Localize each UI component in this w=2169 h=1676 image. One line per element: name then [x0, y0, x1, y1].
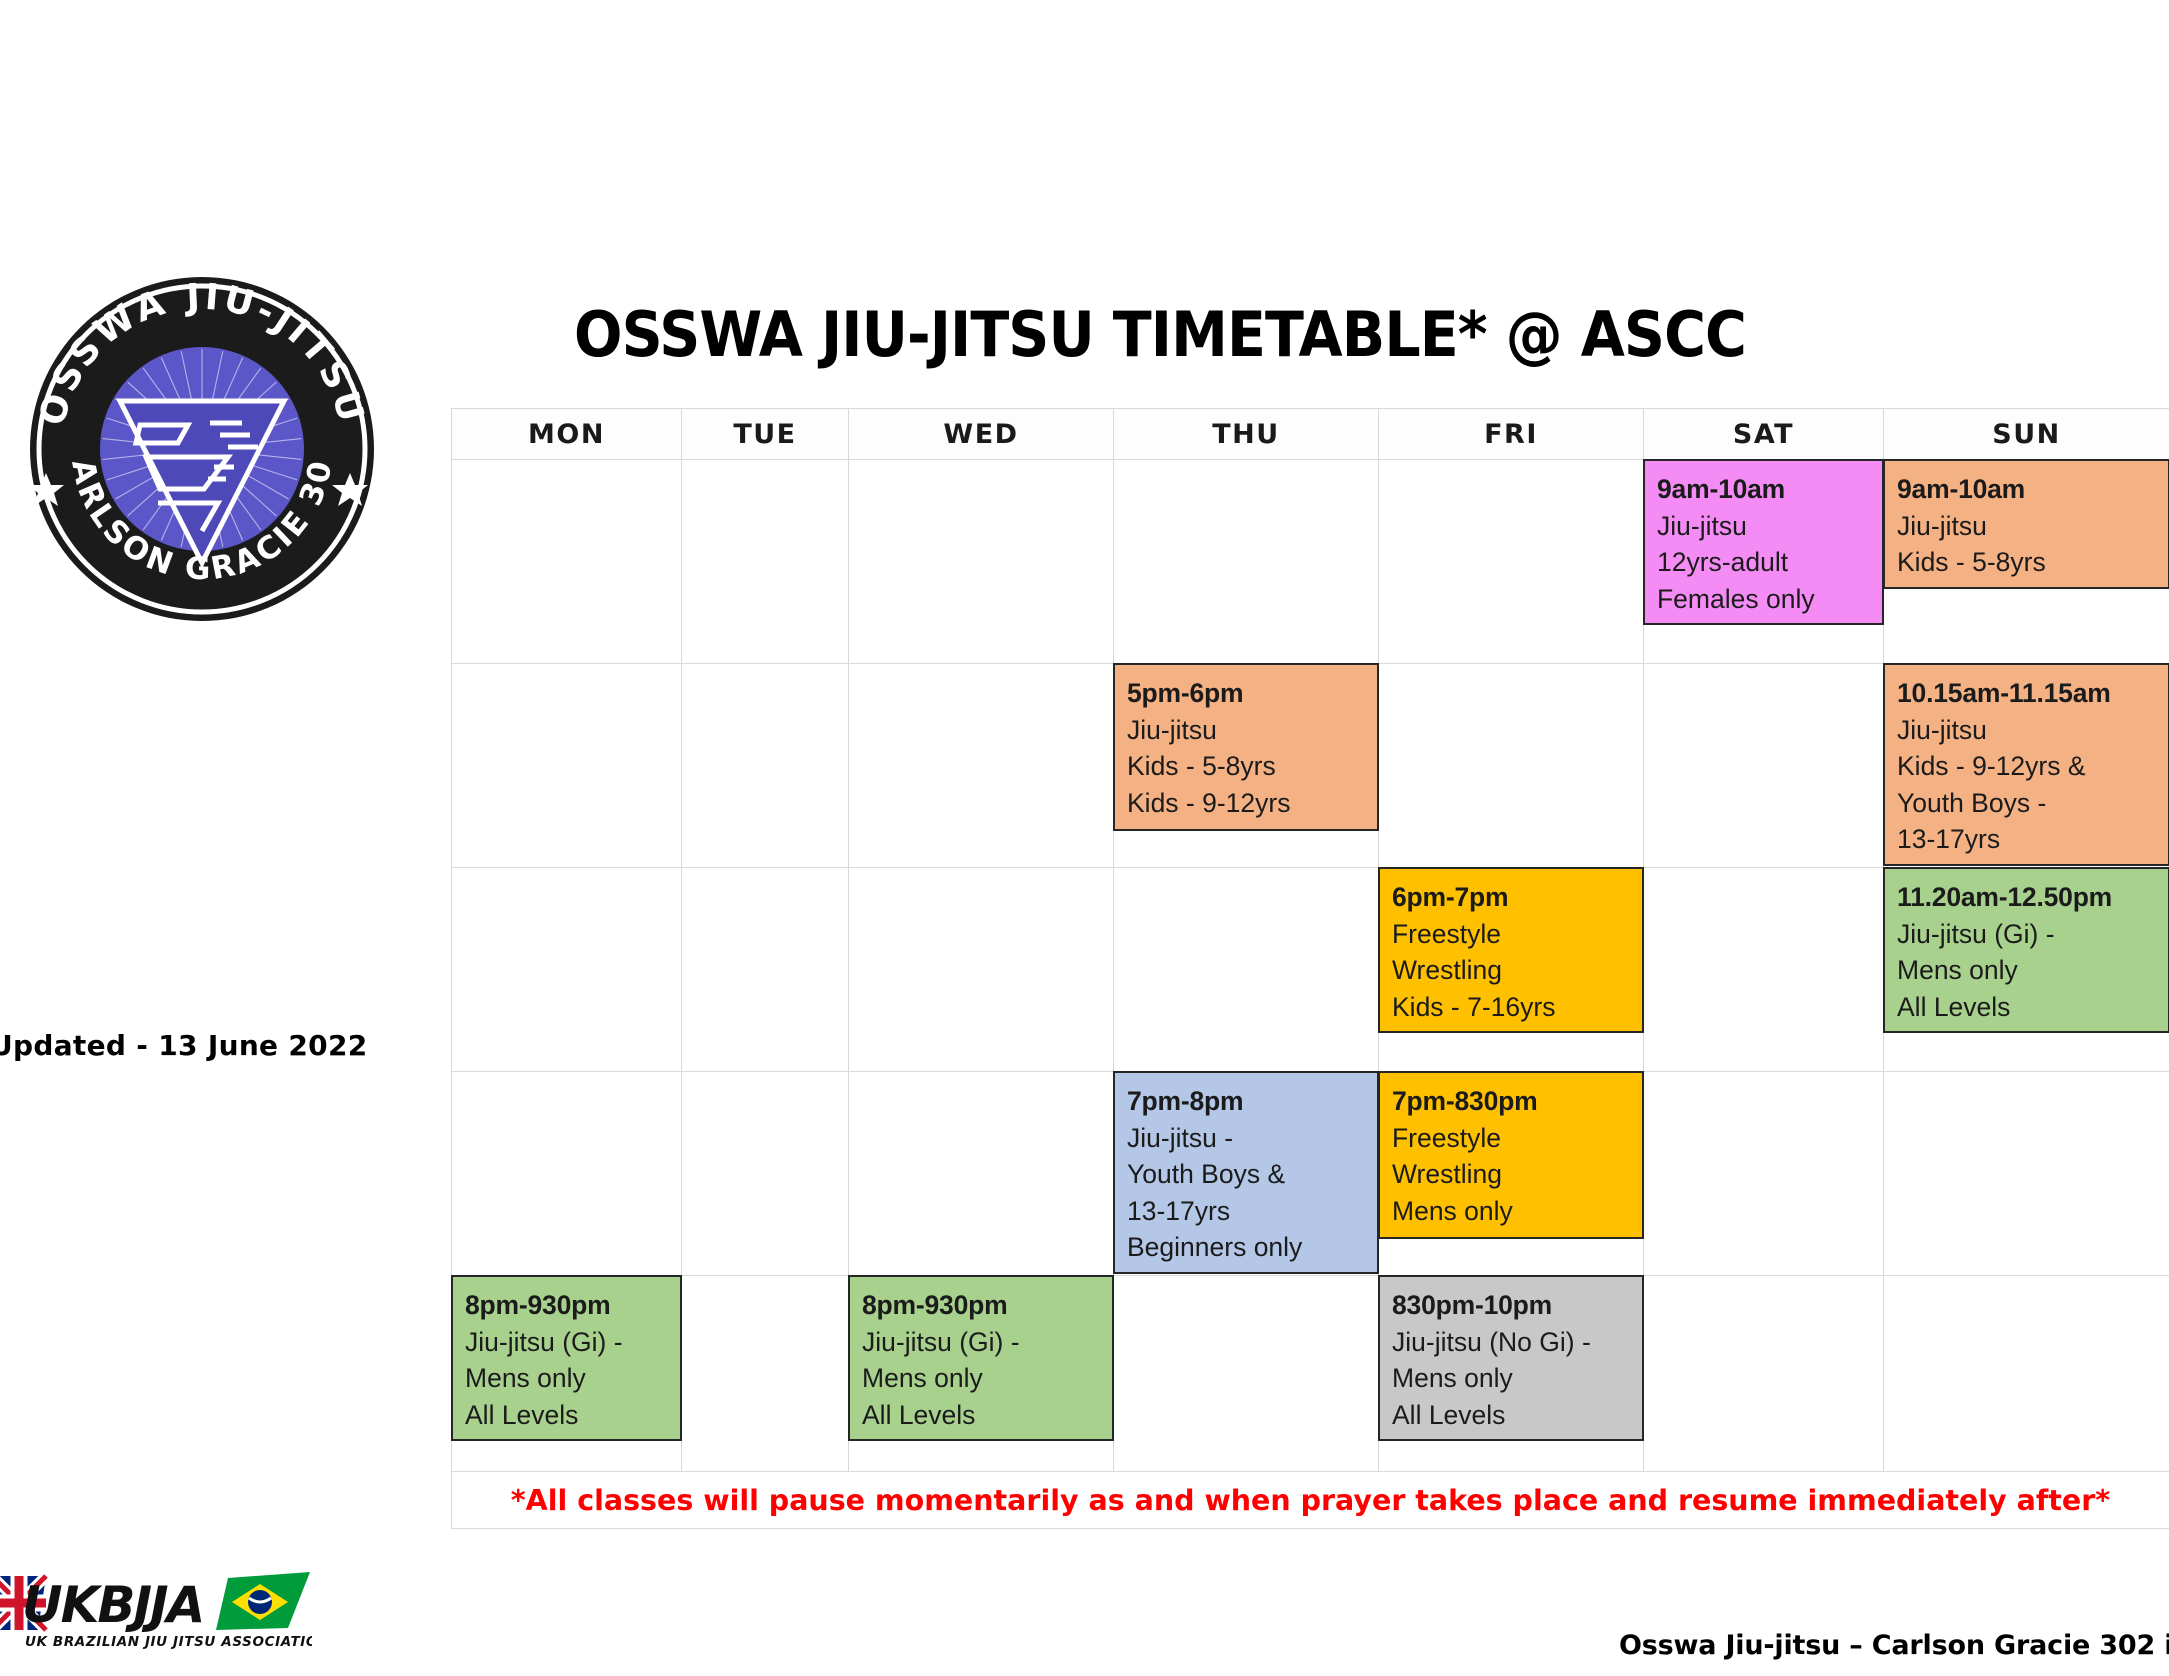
class-detail-line: Wrestling: [1392, 1156, 1632, 1193]
affiliation-note: Osswa Jiu-jitsu – Carlson Gracie 302 is …: [1619, 1630, 2169, 1661]
class-block[interactable]: 6pm-7pmFreestyleWrestlingKids - 7-16yrs: [1378, 867, 1644, 1033]
day-header-sat: SAT: [1644, 409, 1884, 460]
timetable-empty-cell-tue: [682, 460, 849, 664]
timetable-empty-cell-thu: [1114, 868, 1379, 1072]
class-time: 7pm-830pm: [1392, 1083, 1632, 1120]
class-detail-line: Freestyle: [1392, 916, 1632, 953]
class-detail-line: Kids - 7-16yrs: [1392, 989, 1632, 1026]
class-detail-line: Kids - 5-8yrs: [1897, 544, 2158, 581]
prayer-pause-note: *All classes will pause momentarily as a…: [511, 1484, 2110, 1517]
timetable-cell-thu: 5pm-6pmJiu-jitsuKids - 5-8yrsKids - 9-12…: [1114, 664, 1379, 868]
class-block[interactable]: 7pm-830pmFreestyleWrestlingMens only: [1378, 1071, 1644, 1239]
timetable-cell-wed: 8pm-930pmJiu-jitsu (Gi) -Mens onlyAll Le…: [849, 1276, 1114, 1472]
class-block[interactable]: 830pm-10pmJiu-jitsu (No Gi) -Mens onlyAl…: [1378, 1275, 1644, 1441]
timetable-row: 8pm-930pmJiu-jitsu (Gi) -Mens onlyAll Le…: [452, 1276, 2169, 1472]
timetable-empty-cell-sun: [1884, 1276, 2169, 1472]
class-detail-line: Jiu-jitsu (Gi) -: [1897, 916, 2158, 953]
class-detail-line: Females only: [1657, 581, 1872, 618]
timetable-cell-fri: 830pm-10pmJiu-jitsu (No Gi) -Mens onlyAl…: [1379, 1276, 1644, 1472]
timetable-body: 9am-10amJiu-jitsu12yrs-adultFemales only…: [452, 460, 2169, 1472]
class-block[interactable]: 8pm-930pmJiu-jitsu (Gi) -Mens onlyAll Le…: [848, 1275, 1114, 1441]
timetable-empty-cell-thu: [1114, 1276, 1379, 1472]
updated-date: Updated - 13 June 2022: [0, 1029, 368, 1062]
timetable-empty-cell-tue: [682, 1072, 849, 1276]
timetable-cell-sun: 9am-10amJiu-jitsuKids - 5-8yrs: [1884, 460, 2169, 664]
brazil-flag-icon: [216, 1572, 310, 1630]
timetable-empty-cell-thu: [1114, 460, 1379, 664]
timetable-empty-cell-sat: [1644, 868, 1884, 1072]
timetable-empty-cell-mon: [452, 1072, 682, 1276]
day-header-tue: TUE: [682, 409, 849, 460]
class-detail-line: All Levels: [465, 1397, 670, 1434]
class-detail-line: Jiu-jitsu: [1897, 508, 2158, 545]
timetable-empty-cell-fri: [1379, 460, 1644, 664]
timetable-empty-cell-mon: [452, 460, 682, 664]
class-block[interactable]: 5pm-6pmJiu-jitsuKids - 5-8yrsKids - 9-12…: [1113, 663, 1379, 831]
timetable-empty-cell-mon: [452, 664, 682, 868]
timetable-row: 6pm-7pmFreestyleWrestlingKids - 7-16yrs1…: [452, 868, 2169, 1072]
class-detail-line: Beginners only: [1127, 1229, 1367, 1266]
timetable-cell-mon: 8pm-930pmJiu-jitsu (Gi) -Mens onlyAll Le…: [452, 1276, 682, 1472]
timetable-empty-cell-sat: [1644, 1276, 1884, 1472]
class-detail-line: Mens only: [465, 1360, 670, 1397]
class-block[interactable]: 9am-10amJiu-jitsu12yrs-adultFemales only: [1643, 459, 1884, 625]
timetable-header-row: MON TUE WED THU FRI SAT SUN: [452, 409, 2169, 460]
timetable-cell-fri: 7pm-830pmFreestyleWrestlingMens only: [1379, 1072, 1644, 1276]
timetable-row: 9am-10amJiu-jitsu12yrs-adultFemales only…: [452, 460, 2169, 664]
class-block[interactable]: 8pm-930pmJiu-jitsu (Gi) -Mens onlyAll Le…: [451, 1275, 682, 1441]
timetable-empty-cell-sat: [1644, 1072, 1884, 1276]
timetable-cell-thu: 7pm-8pmJiu-jitsu -Youth Boys &13-17yrsBe…: [1114, 1072, 1379, 1276]
class-time: 830pm-10pm: [1392, 1287, 1632, 1324]
class-block[interactable]: 7pm-8pmJiu-jitsu -Youth Boys &13-17yrsBe…: [1113, 1071, 1379, 1274]
day-header-sun: SUN: [1884, 409, 2169, 460]
class-detail-line: Youth Boys &: [1127, 1156, 1367, 1193]
class-block[interactable]: 10.15am-11.15amJiu-jitsuKids - 9-12yrs &…: [1883, 663, 2169, 866]
page-title: OSSWA JIU-JITSU TIMETABLE* @ ASCC: [461, 298, 1859, 371]
timetable-empty-cell-wed: [849, 1072, 1114, 1276]
day-header-fri: FRI: [1379, 409, 1644, 460]
osswa-logo: OSSWA JIU-JITSU CARLSON GRACIE 302: [28, 275, 376, 623]
class-time: 7pm-8pm: [1127, 1083, 1367, 1120]
timetable-empty-cell-sun: [1884, 1072, 2169, 1276]
class-detail-line: Mens only: [1392, 1193, 1632, 1230]
class-detail-line: Wrestling: [1392, 952, 1632, 989]
class-time: 5pm-6pm: [1127, 675, 1367, 712]
class-detail-line: Mens only: [1392, 1360, 1632, 1397]
class-time: 9am-10am: [1897, 471, 2158, 508]
class-time: 9am-10am: [1657, 471, 1872, 508]
class-detail-line: Jiu-jitsu -: [1127, 1120, 1367, 1157]
timetable-row: 7pm-8pmJiu-jitsu -Youth Boys &13-17yrsBe…: [452, 1072, 2169, 1276]
ukbjja-wordmark: UKBJJA: [22, 1576, 203, 1634]
class-time: 8pm-930pm: [862, 1287, 1102, 1324]
class-detail-line: Jiu-jitsu: [1897, 712, 2158, 749]
class-detail-line: Kids - 9-12yrs: [1127, 785, 1367, 822]
class-detail-line: Jiu-jitsu (Gi) -: [862, 1324, 1102, 1361]
timetable-empty-cell-tue: [682, 1276, 849, 1472]
class-detail-line: 12yrs-adult: [1657, 544, 1872, 581]
class-detail-line: Freestyle: [1392, 1120, 1632, 1157]
class-detail-line: Kids - 5-8yrs: [1127, 748, 1367, 785]
day-header-mon: MON: [452, 409, 682, 460]
class-detail-line: Jiu-jitsu (Gi) -: [465, 1324, 670, 1361]
class-time: 10.15am-11.15am: [1897, 675, 2158, 712]
class-time: 6pm-7pm: [1392, 879, 1632, 916]
timetable-empty-cell-fri: [1379, 664, 1644, 868]
timetable-cell-sat: 9am-10amJiu-jitsu12yrs-adultFemales only: [1644, 460, 1884, 664]
timetable-empty-cell-mon: [452, 868, 682, 1072]
ukbjja-logo: UKBJJA UK BRAZILIAN JIU JITSU ASSOCIATIO…: [0, 1570, 312, 1666]
class-detail-line: Jiu-jitsu (No Gi) -: [1392, 1324, 1632, 1361]
timetable-footnote-row: *All classes will pause momentarily as a…: [452, 1472, 2169, 1529]
timetable-cell-fri: 6pm-7pmFreestyleWrestlingKids - 7-16yrs: [1379, 868, 1644, 1072]
day-header-wed: WED: [849, 409, 1114, 460]
class-time: 11.20am-12.50pm: [1897, 879, 2158, 916]
timetable-footnote-cell: *All classes will pause momentarily as a…: [452, 1472, 2169, 1529]
class-detail-line: Jiu-jitsu: [1127, 712, 1367, 749]
class-detail-line: 13-17yrs: [1127, 1193, 1367, 1230]
timetable-empty-cell-tue: [682, 664, 849, 868]
class-detail-line: All Levels: [1392, 1397, 1632, 1434]
class-detail-line: Kids - 9-12yrs &: [1897, 748, 2158, 785]
timetable-empty-cell-wed: [849, 868, 1114, 1072]
timetable-empty-cell-tue: [682, 868, 849, 1072]
timetable-empty-cell-wed: [849, 460, 1114, 664]
timetable-cell-sun: 10.15am-11.15amJiu-jitsuKids - 9-12yrs &…: [1884, 664, 2169, 868]
class-block[interactable]: 9am-10amJiu-jitsuKids - 5-8yrs: [1883, 459, 2169, 589]
timetable-row: 5pm-6pmJiu-jitsuKids - 5-8yrsKids - 9-12…: [452, 664, 2169, 868]
class-detail-line: Mens only: [1897, 952, 2158, 989]
class-detail-line: All Levels: [1897, 989, 2158, 1026]
timetable-cell-sun: 11.20am-12.50pmJiu-jitsu (Gi) -Mens only…: [1884, 868, 2169, 1072]
ukbjja-tagline: UK BRAZILIAN JIU JITSU ASSOCIATION: [25, 1634, 312, 1650]
timetable-empty-cell-sat: [1644, 664, 1884, 868]
class-detail-line: All Levels: [862, 1397, 1102, 1434]
class-detail-line: Jiu-jitsu: [1657, 508, 1872, 545]
class-detail-line: 13-17yrs: [1897, 821, 2158, 858]
timetable: MON TUE WED THU FRI SAT SUN 9am-10amJiu-…: [451, 408, 2169, 1529]
class-time: 8pm-930pm: [465, 1287, 670, 1324]
day-header-thu: THU: [1114, 409, 1379, 460]
class-detail-line: Youth Boys -: [1897, 785, 2158, 822]
class-block[interactable]: 11.20am-12.50pmJiu-jitsu (Gi) -Mens only…: [1883, 867, 2169, 1033]
timetable-empty-cell-wed: [849, 664, 1114, 868]
class-detail-line: Mens only: [862, 1360, 1102, 1397]
